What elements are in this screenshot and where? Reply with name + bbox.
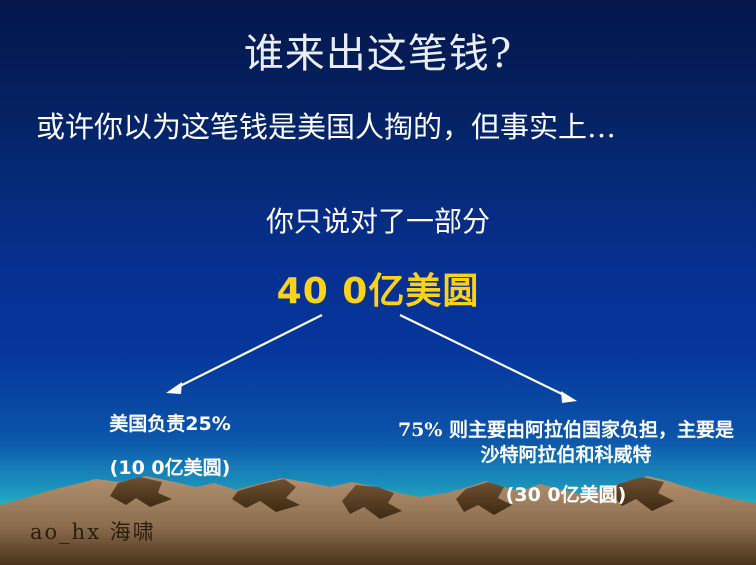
branch-right: 75% 则主要由阿拉伯国家负担，主要是沙特阿拉伯和科威特 (30 0亿美圆): [392, 418, 740, 507]
presentation-slide: 谁来出这笔钱? 或许你以为这笔钱是美国人掏的，但事实上… 你只说对了一部分 40…: [0, 0, 756, 565]
total-amount-callout: 40 0亿美圆: [0, 262, 756, 314]
branch-left-heading: 美国负责25%: [30, 412, 310, 437]
branch-left-subtext: (10 0亿美圆): [30, 453, 310, 480]
slide-paragraph-one: 或许你以为这笔钱是美国人掏的，但事实上…: [28, 108, 688, 147]
arrow-down-right-icon: [400, 315, 577, 403]
arrow-down-left-icon: [166, 315, 322, 394]
branch-left: 美国负责25% (10 0亿美圆): [30, 412, 310, 480]
slide-title: 谁来出这笔钱?: [0, 32, 756, 76]
author-watermark: ao_hx 海啸: [30, 516, 156, 546]
branch-right-subtext: (30 0亿美圆): [392, 480, 740, 507]
branch-right-heading: 75% 则主要由阿拉伯国家负担，主要是沙特阿拉伯和科威特: [392, 418, 740, 468]
slide-paragraph-two: 你只说对了一部分: [0, 200, 756, 240]
